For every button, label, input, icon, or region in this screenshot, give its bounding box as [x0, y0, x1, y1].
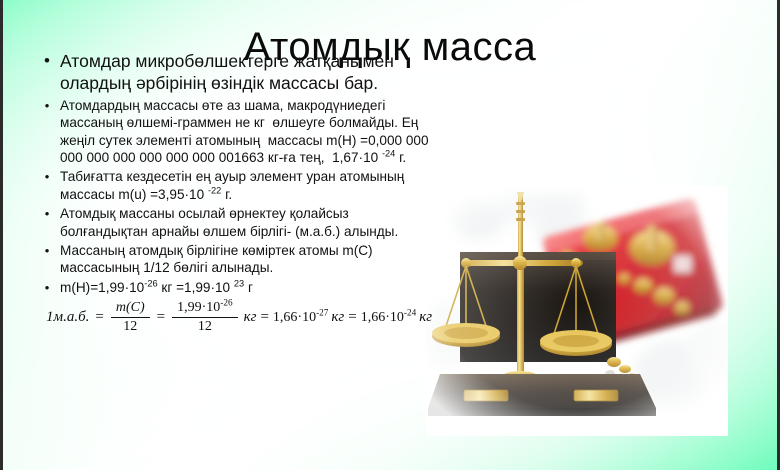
balance-scale-illustration: [426, 186, 728, 436]
balance-scale-photo: [426, 186, 728, 436]
bullet-marker-icon: •: [34, 97, 60, 116]
list-item: • Массаның атомдық бірлігіне көміртек ат…: [34, 242, 436, 277]
list-item-text: Массаның атомдық бірлігіне көміртек атом…: [60, 242, 436, 277]
list-item: • m(H)=1,99·10-26 кг =1,99·10 23 г: [34, 279, 436, 298]
formula-fraction-2-numerator: 1,99·10-26: [172, 300, 237, 318]
bullet-marker-icon: •: [34, 205, 60, 224]
formula-equals-2: =: [157, 309, 165, 326]
formula-equals-3: =: [260, 309, 268, 326]
formula-term-1: 1,66·10-27: [273, 310, 328, 326]
formula-unit-2: кг: [331, 309, 344, 326]
bullet-marker-icon: •: [34, 279, 60, 298]
list-item: • Атомдық массаны осылай өрнектеу қолайс…: [34, 205, 436, 240]
list-item: • Атомдар микробөлшектерге жатқанымен ол…: [34, 50, 436, 95]
bullet-marker-icon: •: [34, 168, 60, 187]
bullet-marker-icon: •: [34, 242, 60, 261]
formula-fraction-1-denominator: 12: [123, 318, 137, 335]
atomic-mass-unit-formula: 1м.а.б. = m(C) 12 = 1,99·10-26 12 кг = 1…: [46, 300, 432, 335]
list-item-text: Атомдық массаны осылай өрнектеу қолайсыз…: [60, 205, 436, 240]
list-item-text: m(H)=1,99·10-26 кг =1,99·10 23 г: [60, 279, 436, 296]
list-item-text: Атомдар микробөлшектерге жатқанымен олар…: [60, 50, 436, 95]
formula-unit-3: кг: [419, 309, 432, 326]
formula-equals-4: =: [348, 309, 356, 326]
list-item-text: Атомдардың массасы өте аз шама, макродүн…: [60, 97, 436, 167]
bullet-marker-icon: •: [34, 50, 60, 73]
formula-term-2: 1,66·10-24: [361, 310, 416, 326]
formula-unit-1: кг: [244, 309, 257, 326]
list-item: • Атомдардың массасы өте аз шама, макрод…: [34, 97, 436, 167]
formula-fraction-2-denominator: 12: [198, 318, 212, 335]
list-item: • Табиғатта кездесетін ең ауыр элемент у…: [34, 168, 436, 203]
list-item-text: Табиғатта кездесетін ең ауыр элемент ура…: [60, 168, 436, 203]
formula-fraction-2: 1,99·10-26 12: [172, 300, 237, 335]
formula-lead: 1м.а.б.: [46, 309, 89, 326]
formula-fraction-1: m(C) 12: [111, 300, 150, 335]
formula-fraction-1-numerator: m(C): [111, 300, 150, 318]
presentation-slide: Атомдық масса • Атомдар микробөлшектерге…: [0, 0, 780, 470]
bullet-list: • Атомдар микробөлшектерге жатқанымен ол…: [34, 50, 436, 300]
formula-equals-1: =: [95, 309, 103, 326]
